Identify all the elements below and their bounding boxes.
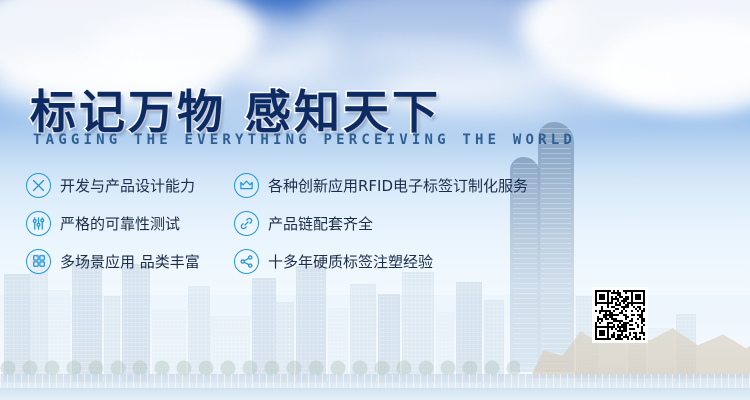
feature-item: 十多年硬质标签注塑经验 — [234, 242, 724, 280]
qr-code[interactable] — [592, 287, 648, 343]
feature-label: 十多年硬质标签注塑经验 — [268, 251, 433, 272]
share-icon — [234, 249, 259, 274]
feature-item: 产品链配套齐全 — [234, 204, 724, 242]
feature-label: 产品链配套齐全 — [268, 213, 373, 234]
tools-icon — [26, 173, 51, 198]
qr-code-canvas — [595, 290, 645, 340]
promo-banner: 标记万物 感知天下 TAGGING THE EVERYTHING PERCEIV… — [0, 0, 750, 400]
sliders-icon — [26, 211, 51, 236]
feature-label: 多场景应用 品类丰富 — [60, 251, 200, 272]
grid-icon — [26, 249, 51, 274]
crown-icon — [234, 173, 259, 198]
feature-item: 严格的可靠性测试 — [26, 204, 231, 242]
feature-label: 开发与产品设计能力 — [60, 175, 195, 196]
feature-item: 多场景应用 品类丰富 — [26, 242, 231, 280]
feature-item: 开发与产品设计能力 — [26, 166, 231, 204]
banner-content: 标记万物 感知天下 TAGGING THE EVERYTHING PERCEIV… — [0, 0, 750, 400]
feature-column-left: 开发与产品设计能力 严格的可靠性测试 — [26, 166, 231, 280]
feature-item: 各种创新应用RFID电子标签订制化服务 — [234, 166, 724, 204]
feature-column-right: 各种创新应用RFID电子标签订制化服务 产品链配套齐全 — [234, 166, 724, 280]
feature-label: 各种创新应用RFID电子标签订制化服务 — [268, 175, 528, 196]
feature-label: 严格的可靠性测试 — [60, 213, 180, 234]
link-icon — [234, 211, 259, 236]
subheadline: TAGGING THE EVERYTHING PERCEIVING THE WO… — [33, 132, 576, 148]
